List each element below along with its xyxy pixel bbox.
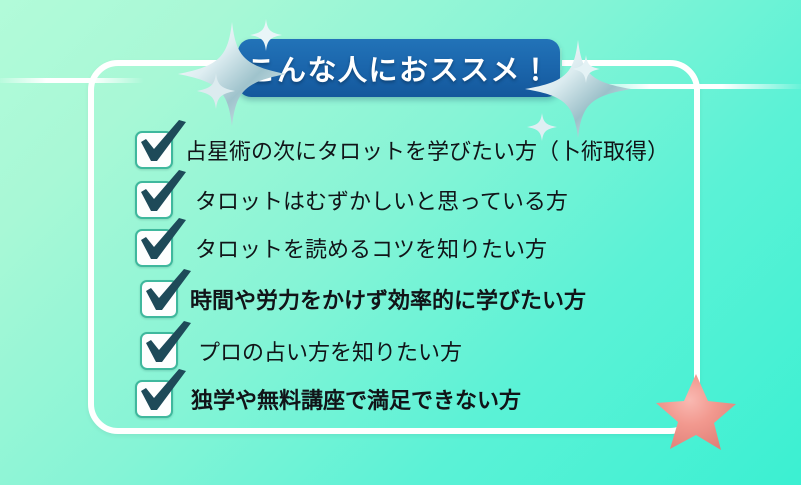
list-item-label: 時間や労力をかけず効率的に学びたい方	[190, 283, 586, 315]
list-item[interactable]: 占星術の次にタロットを学びたい方（卜術取得）	[135, 131, 669, 169]
checkbox-checked-icon[interactable]	[135, 131, 173, 169]
light-streak-left	[0, 78, 144, 83]
list-item[interactable]: 独学や無料講座で満足できない方	[135, 380, 521, 418]
star-icon-pink	[651, 371, 737, 453]
banner-title: こんな人におススメ！	[246, 47, 551, 89]
checkbox-checked-icon[interactable]	[140, 332, 178, 370]
list-item-label: プロの占い方を知りたい方	[198, 335, 462, 367]
list-item-label: 占星術の次にタロットを学びたい方（卜術取得）	[185, 134, 669, 166]
checkbox-checked-icon[interactable]	[135, 229, 173, 267]
list-item-label: タロットはむずかしいと思っている方	[195, 184, 568, 216]
list-item[interactable]: 時間や労力をかけず効率的に学びたい方	[140, 280, 586, 318]
list-item[interactable]: プロの占い方を知りたい方	[140, 332, 462, 370]
list-item-label: タロットを読めるコツを知りたい方	[195, 232, 547, 264]
list-item[interactable]: タロットを読めるコツを知りたい方	[135, 229, 547, 267]
light-streak-right	[566, 84, 801, 89]
checkbox-checked-icon[interactable]	[135, 181, 173, 219]
checkbox-checked-icon[interactable]	[135, 380, 173, 418]
header-banner: こんな人におススメ！	[238, 39, 560, 97]
checkbox-checked-icon[interactable]	[140, 280, 178, 318]
list-item-label: 独学や無料講座で満足できない方	[191, 383, 521, 415]
list-item[interactable]: タロットはむずかしいと思っている方	[135, 181, 568, 219]
poster-canvas: こんな人におススメ！ 占星術の次にタロットを学びたい方（卜術取得） タロットはむ…	[0, 0, 801, 485]
